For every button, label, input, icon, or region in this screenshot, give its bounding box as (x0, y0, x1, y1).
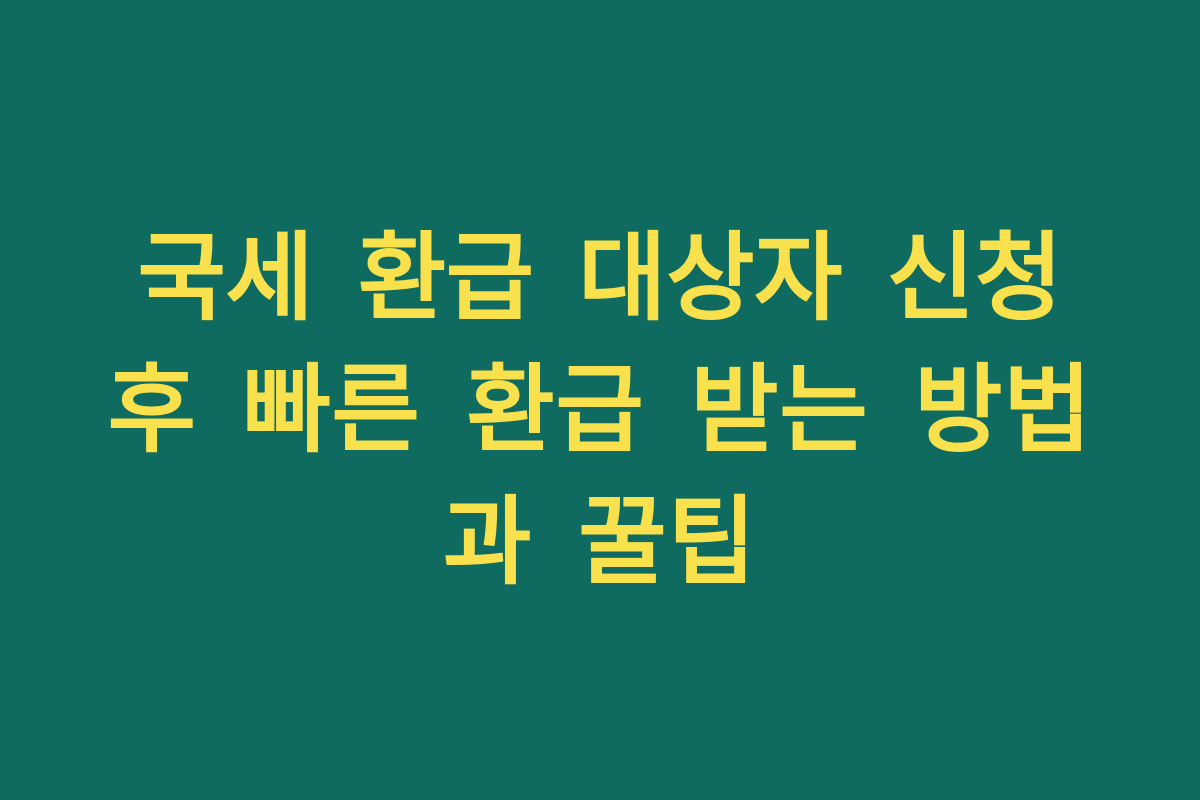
headline-block: 국세 환급 대상자 신청 후 빠른 환급 받는 방법 과 꿀팁 (50, 212, 1150, 608)
thumbnail-canvas: 국세 환급 대상자 신청 후 빠른 환급 받는 방법 과 꿀팁 (0, 0, 1200, 800)
headline-line-2: 후 빠른 환급 받는 방법 (50, 344, 1150, 476)
headline-line-1: 국세 환급 대상자 신청 (50, 212, 1150, 344)
headline-line-3: 과 꿀팁 (50, 476, 1150, 608)
